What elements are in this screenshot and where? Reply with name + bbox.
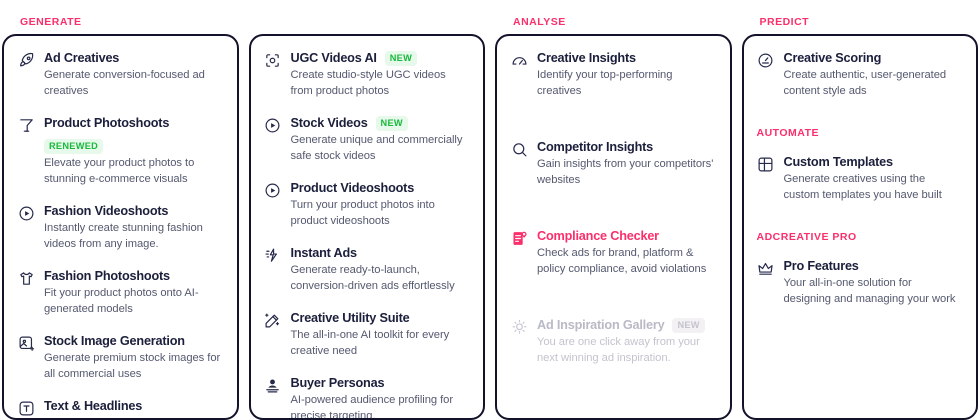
feature-title: Instant Ads xyxy=(291,245,357,261)
feature-item-text-and-headlines[interactable]: Text & Headlines Generate texts high-con… xyxy=(17,398,223,420)
lightbulb-icon xyxy=(510,318,528,336)
column-generate: GENERATE Ad Creatives xyxy=(2,0,239,420)
feature-desc: Create authentic, user-generated content… xyxy=(784,68,963,99)
feature-title: Fashion Videoshoots xyxy=(44,203,168,219)
instant-bolt-icon xyxy=(264,246,282,264)
feature-item-stock-videos[interactable]: Stock Videos NEW Generate unique and com… xyxy=(264,115,470,164)
feature-title: Creative Insights xyxy=(537,50,636,66)
magic-wand-icon xyxy=(264,311,282,329)
feature-item-creative-insights[interactable]: Creative Insights Identify your top-perf… xyxy=(510,50,716,99)
feature-title: Stock Videos xyxy=(291,115,368,131)
focus-target-icon xyxy=(264,51,282,69)
feature-desc: Check ads for brand, platform & policy c… xyxy=(537,246,716,277)
status-badge-new: NEW xyxy=(376,116,408,131)
feature-title: Custom Templates xyxy=(784,154,893,170)
column-generate-secondary: UGC Videos AI NEW Create studio-style UG… xyxy=(249,0,486,420)
grid-templates-icon xyxy=(757,155,775,173)
feature-desc: AI-powered audience profiling for precis… xyxy=(291,393,470,420)
feature-desc: Generate conversion-focused ad creatives xyxy=(44,68,223,99)
text-box-icon xyxy=(17,399,35,417)
gauge-icon xyxy=(510,51,528,69)
feature-item-ugc-videos-ai[interactable]: UGC Videos AI NEW Create studio-style UG… xyxy=(264,50,470,99)
feature-title: Fashion Photoshoots xyxy=(44,268,170,284)
status-badge-renewed: RENEWED xyxy=(44,139,103,154)
feature-item-custom-templates[interactable]: Custom Templates Generate creatives usin… xyxy=(757,154,963,203)
section-label-automate: AUTOMATE xyxy=(757,127,963,140)
tshirt-icon xyxy=(17,269,35,287)
feature-title: Ad Inspiration Gallery xyxy=(537,317,664,333)
section-label-predict: PREDICT xyxy=(742,16,810,29)
feature-title: Ad Creatives xyxy=(44,50,119,66)
column-generate-header: GENERATE xyxy=(2,0,239,34)
column-analyse-header: ANALYSE xyxy=(495,0,732,34)
rocket-icon xyxy=(17,51,35,69)
persona-icon xyxy=(264,376,282,394)
card-analyse: Creative Insights Identify your top-perf… xyxy=(495,34,732,420)
card-generate-secondary: UGC Videos AI NEW Create studio-style UG… xyxy=(249,34,486,420)
feature-title: Text & Headlines xyxy=(44,398,142,414)
section-label-analyse: ANALYSE xyxy=(495,16,566,29)
feature-desc: Turn your product photos into product vi… xyxy=(291,198,470,229)
feature-desc: Generate creatives using the custom temp… xyxy=(784,172,963,203)
feature-board: GENERATE Ad Creatives xyxy=(0,0,980,420)
feature-desc: Create studio-style UGC videos from prod… xyxy=(291,68,470,99)
feature-title: UGC Videos AI xyxy=(291,50,377,66)
feature-item-ad-creatives[interactable]: Ad Creatives Generate conversion-focused… xyxy=(17,50,223,99)
feature-title: Compliance Checker xyxy=(537,228,659,244)
column-analyse: ANALYSE Creative Insights xyxy=(495,0,732,420)
feature-title: Creative Utility Suite xyxy=(291,310,410,326)
card-predict: Creative Scoring Create authentic, user-… xyxy=(742,34,979,420)
feature-desc: You are one click away from your next wi… xyxy=(537,335,716,366)
feature-title: Pro Features xyxy=(784,258,859,274)
feature-desc: Generate ready-to-launch, conversion-dri… xyxy=(291,263,470,294)
play-circle-icon xyxy=(264,181,282,199)
feature-item-compliance-checker[interactable]: Compliance Checker Check ads for brand, … xyxy=(510,228,716,277)
feature-title: Creative Scoring xyxy=(784,50,882,66)
image-sparkle-icon xyxy=(17,334,35,352)
feature-desc: Fit your product photos onto AI-generate… xyxy=(44,286,223,317)
feature-item-product-photoshoots[interactable]: Product Photoshoots RENEWED Elevate your… xyxy=(17,115,223,187)
crown-icon xyxy=(757,259,775,277)
status-badge-new: NEW xyxy=(672,318,704,333)
feature-item-competitor-insights[interactable]: Competitor Insights Gain insights from y… xyxy=(510,139,716,188)
speedometer-icon xyxy=(757,51,775,69)
section-label-adcreative-pro: ADCREATIVE PRO xyxy=(757,231,963,244)
status-badge-new: NEW xyxy=(385,51,417,66)
feature-title: Stock Image Generation xyxy=(44,333,185,349)
feature-item-buyer-personas[interactable]: Buyer Personas AI-powered audience profi… xyxy=(264,375,470,420)
feature-desc: Generate premium stock images for all co… xyxy=(44,351,223,382)
feature-title: Buyer Personas xyxy=(291,375,385,391)
column-predict: PREDICT Creative Scoring xyxy=(742,0,979,420)
feature-desc: Gain insights from your competitors' web… xyxy=(537,157,716,188)
feature-desc: Generate unique and commercially safe st… xyxy=(291,133,470,164)
compliance-doc-icon xyxy=(510,229,528,247)
feature-desc: The all-in-one AI toolkit for every crea… xyxy=(291,328,470,359)
feature-item-creative-scoring[interactable]: Creative Scoring Create authentic, user-… xyxy=(757,50,963,99)
feature-title: Competitor Insights xyxy=(537,139,653,155)
column-predict-header: PREDICT xyxy=(742,0,979,34)
column-secondary-header xyxy=(249,0,486,34)
feature-item-product-videoshoots[interactable]: Product Videoshoots Turn your product ph… xyxy=(264,180,470,229)
feature-title: Product Photoshoots xyxy=(44,115,169,131)
feature-item-creative-utility-suite[interactable]: Creative Utility Suite The all-in-one AI… xyxy=(264,310,470,359)
feature-desc: Your all-in-one solution for designing a… xyxy=(784,276,963,307)
feature-item-ad-inspiration-gallery[interactable]: Ad Inspiration Gallery NEW You are one c… xyxy=(510,317,716,366)
feature-item-fashion-photoshoots[interactable]: Fashion Photoshoots Fit your product pho… xyxy=(17,268,223,317)
feature-title: Product Videoshoots xyxy=(291,180,415,196)
play-circle-icon xyxy=(17,204,35,222)
feature-item-instant-ads[interactable]: Instant Ads Generate ready-to-launch, co… xyxy=(264,245,470,294)
card-generate: Ad Creatives Generate conversion-focused… xyxy=(2,34,239,420)
funnel-icon xyxy=(17,116,35,134)
feature-desc: Generate texts high-conversion-rate text xyxy=(44,416,223,420)
feature-item-stock-image-generation[interactable]: Stock Image Generation Generate premium … xyxy=(17,333,223,382)
section-label-generate: GENERATE xyxy=(2,16,82,29)
feature-item-pro-features[interactable]: Pro Features Your all-in-one solution fo… xyxy=(757,258,963,307)
play-circle-icon xyxy=(264,116,282,134)
feature-desc: Instantly create stunning fashion videos… xyxy=(44,221,223,252)
feature-desc: Elevate your product photos to stunning … xyxy=(44,156,223,187)
feature-desc: Identify your top-performing creatives xyxy=(537,68,716,99)
feature-item-fashion-videoshoots[interactable]: Fashion Videoshoots Instantly create stu… xyxy=(17,203,223,252)
search-icon xyxy=(510,140,528,158)
